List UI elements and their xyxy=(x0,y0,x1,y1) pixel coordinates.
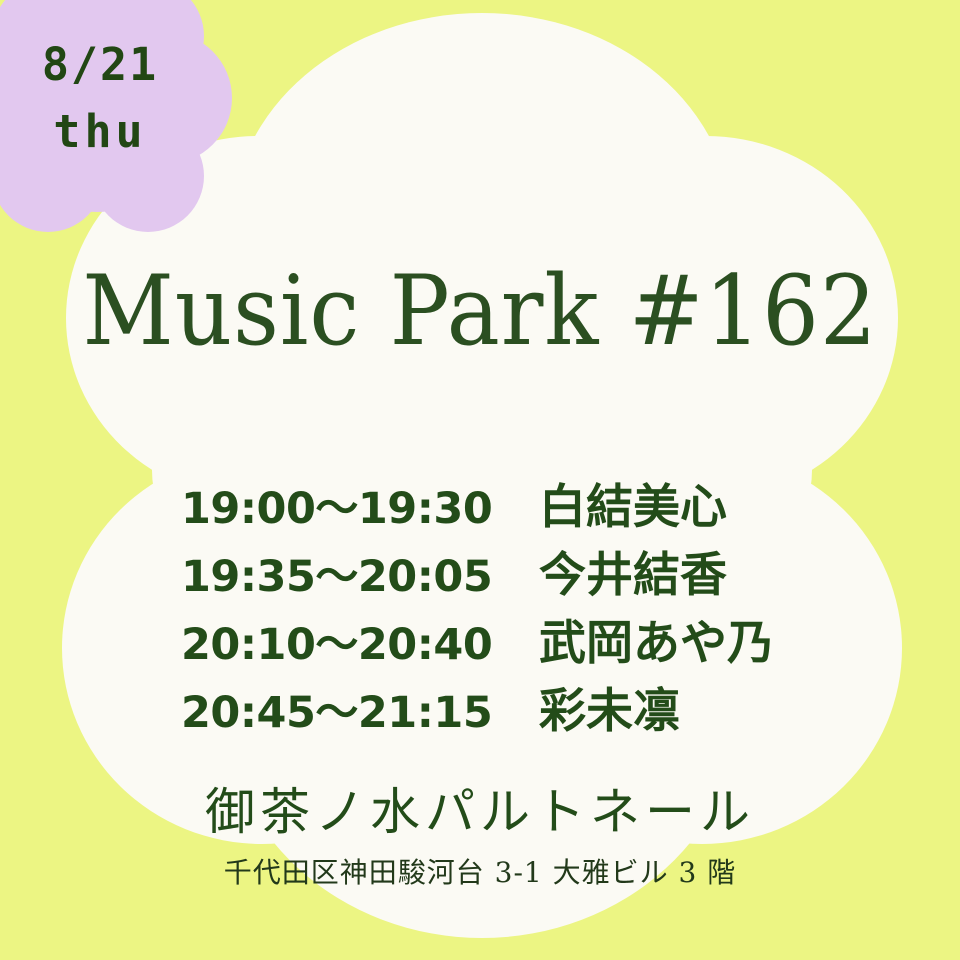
schedule-performer: 武岡あや乃 xyxy=(511,604,779,673)
schedule-row: 19:00〜19:30 白結美心 xyxy=(0,468,960,536)
schedule-row: 19:35〜20:05 今井結香 xyxy=(0,536,960,604)
schedule-list: 19:00〜19:30 白結美心 19:35〜20:05 今井結香 20:10〜… xyxy=(0,468,960,740)
schedule-performer: 白結美心 xyxy=(511,468,779,537)
event-title: Music Park #162 xyxy=(34,258,927,366)
venue-address: 千代田区神田駿河台 3-1 大雅ビル 3 階 xyxy=(0,856,960,890)
schedule-time: 19:00〜19:30 xyxy=(181,474,511,536)
event-flyer: 8/21 thu Music Park #162 19:00〜19:30 白結美… xyxy=(0,0,960,960)
schedule-time: 19:35〜20:05 xyxy=(181,542,511,604)
schedule-row: 20:10〜20:40 武岡あや乃 xyxy=(0,604,960,672)
flyer-content: Music Park #162 19:00〜19:30 白結美心 19:35〜2… xyxy=(0,0,960,960)
schedule-performer: 今井結香 xyxy=(511,536,779,605)
schedule-performer: 彩未凛 xyxy=(511,672,779,741)
venue-name: 御茶ノ水パルトネール xyxy=(0,782,960,842)
schedule-row: 20:45〜21:15 彩未凛 xyxy=(0,672,960,740)
schedule-time: 20:45〜21:15 xyxy=(181,678,511,740)
schedule-time: 20:10〜20:40 xyxy=(181,610,511,672)
